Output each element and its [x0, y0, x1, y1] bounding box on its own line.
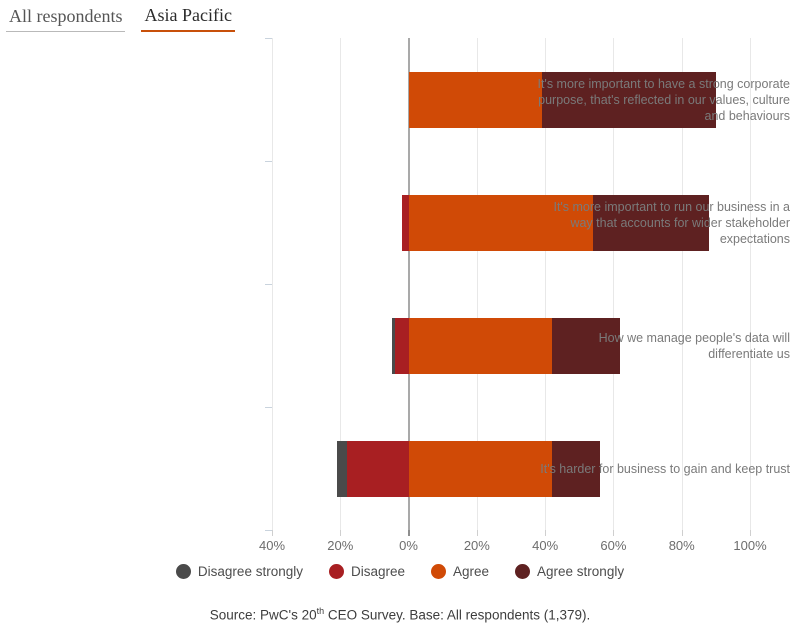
chart-page: All respondents Asia Pacific 40%20%0%20%…: [0, 0, 800, 640]
bar-segment: [409, 441, 552, 497]
y-axis-tick: [265, 284, 272, 285]
category-label: It's more important to run our business …: [532, 161, 800, 284]
x-axis-label: 20%: [327, 538, 353, 553]
legend-label: Agree strongly: [537, 564, 624, 579]
legend-item[interactable]: Agree: [431, 564, 489, 579]
x-axis-tick: [477, 530, 478, 536]
legend-item[interactable]: Disagree strongly: [176, 564, 303, 579]
source-note: Source: PwC's 20th CEO Survey. Base: All…: [0, 606, 800, 623]
legend-label: Agree: [453, 564, 489, 579]
source-prefix: Source: PwC's 20: [210, 608, 317, 623]
legend-swatch-icon: [176, 564, 191, 579]
x-axis-label: 20%: [464, 538, 490, 553]
x-axis-label: 0%: [399, 538, 418, 553]
y-axis-tick: [265, 38, 272, 39]
category-label: It's more important to have a strong cor…: [532, 38, 800, 161]
legend: Disagree stronglyDisagreeAgreeAgree stro…: [0, 564, 800, 579]
x-axis-label: 80%: [669, 538, 695, 553]
bar-segment: [402, 195, 409, 251]
tab-asia-pacific[interactable]: Asia Pacific: [141, 4, 234, 32]
x-axis-label: 40%: [259, 538, 285, 553]
legend-item[interactable]: Disagree: [329, 564, 405, 579]
legend-swatch-icon: [515, 564, 530, 579]
source-suffix: CEO Survey. Base: All respondents (1,379…: [324, 608, 590, 623]
x-axis-label: 60%: [600, 538, 626, 553]
tab-bar: All respondents Asia Pacific: [6, 4, 235, 32]
bar-segment: [347, 441, 408, 497]
legend-item[interactable]: Agree strongly: [515, 564, 624, 579]
x-axis-tick: [408, 530, 410, 536]
y-axis-tick: [265, 530, 272, 531]
x-axis-tick: [340, 530, 341, 536]
legend-swatch-icon: [329, 564, 344, 579]
y-axis-tick: [265, 161, 272, 162]
tab-all-respondents[interactable]: All respondents: [6, 5, 125, 32]
legend-swatch-icon: [431, 564, 446, 579]
y-axis-tick: [265, 407, 272, 408]
legend-label: Disagree: [351, 564, 405, 579]
x-axis-tick: [613, 530, 614, 536]
source-superscript: th: [317, 606, 325, 616]
x-axis-tick: [682, 530, 683, 536]
category-label: How we manage people's data will differe…: [532, 284, 800, 407]
x-axis-tick: [750, 530, 751, 536]
legend-label: Disagree strongly: [198, 564, 303, 579]
bar-segment: [337, 441, 347, 497]
bar-segment: [395, 318, 409, 374]
category-label: It's harder for business to gain and kee…: [532, 407, 800, 530]
x-axis-label: 100%: [733, 538, 766, 553]
x-axis-tick: [545, 530, 546, 536]
x-axis-label: 40%: [532, 538, 558, 553]
bar-segment: [409, 72, 542, 128]
x-axis-tick: [272, 530, 273, 536]
gridline: [272, 38, 273, 530]
bar-segment: [409, 318, 552, 374]
